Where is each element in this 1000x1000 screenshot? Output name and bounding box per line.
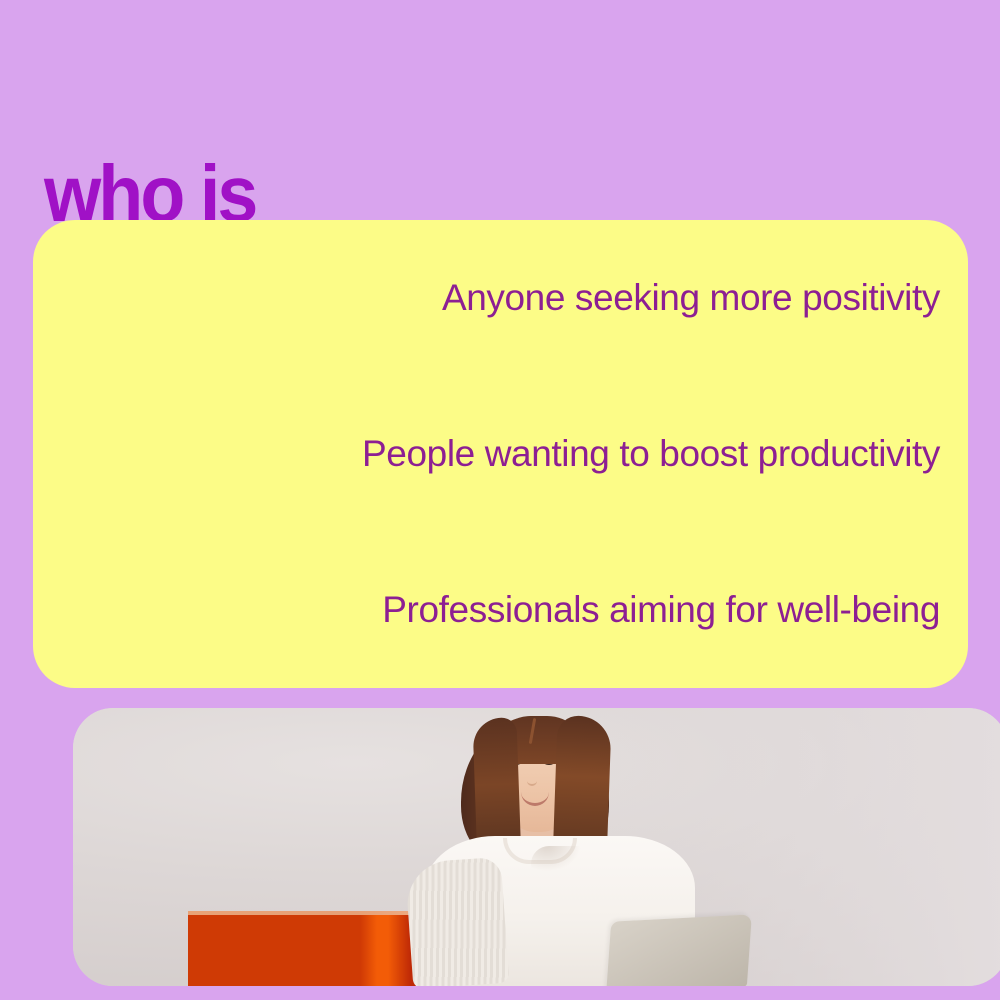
headline-line-1: who is	[44, 158, 596, 230]
nose	[527, 770, 537, 786]
sweater-sleeve-left	[405, 857, 510, 986]
benefit-item-2: People wanting to boost productivity	[362, 433, 940, 476]
laptop	[606, 914, 752, 986]
slide-canvas: who is this for? Anyone seeking more pos…	[0, 0, 1000, 1000]
shoulder-shadow	[531, 846, 611, 882]
photo-panel	[73, 708, 1000, 986]
benefit-item-3: Professionals aiming for well-being	[382, 589, 940, 632]
benefits-card: Anyone seeking more positivity People wa…	[33, 220, 968, 688]
benefit-item-1: Anyone seeking more positivity	[442, 277, 940, 320]
